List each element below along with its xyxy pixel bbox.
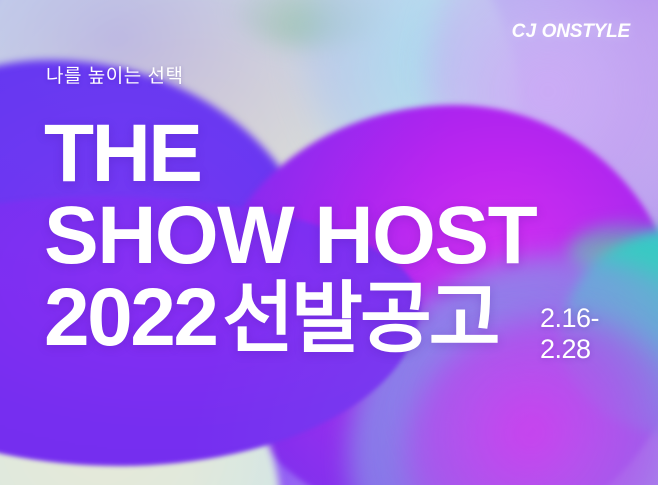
tagline-text: 나를 높이는 선택: [46, 66, 183, 89]
brand-logo[interactable]: CJ ONSTYLE: [512, 22, 630, 41]
headline-korean-suffix: 선발공고: [222, 283, 497, 355]
brand-logo-cj: CJ: [512, 22, 537, 41]
date-range-start: 2.16-: [540, 303, 599, 334]
promo-banner[interactable]: CJ ONSTYLE 나를 높이는 선택 THE SHOW HOST 2022 …: [0, 0, 658, 485]
headline-line-2: SHOW HOST: [44, 200, 644, 272]
date-range-end: 2.28: [540, 334, 599, 365]
brand-logo-onstyle: ONSTYLE: [542, 22, 630, 41]
date-range: 2.16- 2.28: [540, 303, 599, 366]
banner-content: CJ ONSTYLE 나를 높이는 선택 THE SHOW HOST 2022 …: [0, 0, 658, 485]
headline-year: 2022: [44, 282, 216, 354]
headline-line-1: THE: [44, 118, 644, 190]
